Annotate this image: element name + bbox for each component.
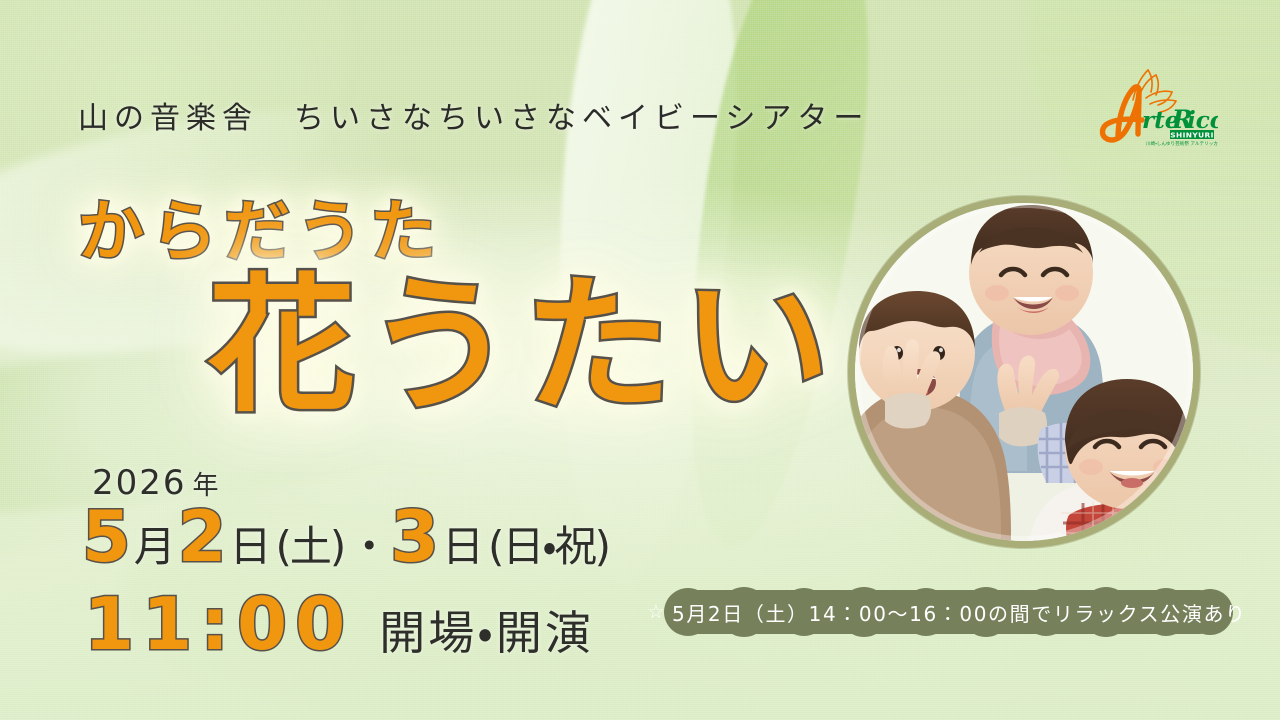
event-day1-number: 2	[178, 502, 228, 572]
baby-photo-circle	[848, 196, 1200, 548]
relax-performance-note: ☆ 5月2日（土）14：00〜16：00の間でリラックス公演あり	[648, 586, 1246, 638]
main-title: 花うたい	[208, 272, 840, 420]
event-time-line: 11:00 開場・開演	[84, 588, 594, 660]
relax-note-text: 5月2日（土）14：00〜16：00の間でリラックス公演あり	[672, 598, 1247, 627]
event-day1-unit: 日	[229, 526, 271, 568]
arte-ricca-logo[interactable]: rte R icca SHINYURI 川崎・しんゆり芸術祭 アルテリッカしんゆ…	[1076, 64, 1218, 148]
event-date-line: 5 月 2 日 (土) ・ 3 日 (日・祝)	[82, 502, 611, 572]
producer-line: 山の音楽舎 ちいさなちいさなベイビーシアター	[78, 93, 869, 137]
event-day2-number: 3	[390, 502, 440, 572]
event-month-number: 5	[82, 502, 132, 572]
event-day2-weekday: (日・祝)	[488, 526, 609, 568]
svg-text:SHINYURI: SHINYURI	[1170, 130, 1213, 139]
event-date-separator: ・	[348, 526, 388, 568]
relax-note-text-row: ☆ 5月2日（土）14：00〜16：00の間でリラックス公演あり	[648, 586, 1246, 638]
event-day1-weekday: (土)	[275, 526, 344, 568]
event-day2-unit: 日	[442, 526, 484, 568]
baby-photo-image	[855, 203, 1193, 541]
event-time-value: 11:00	[84, 588, 353, 660]
star-icon: ☆	[647, 601, 666, 623]
svg-text:川崎・しんゆり芸術祭 アルテリッカしんゆり: 川崎・しんゆり芸術祭 アルテリッカしんゆり	[1146, 140, 1218, 147]
event-time-label: 開場・開演	[379, 610, 594, 656]
event-month-unit: 月	[134, 526, 176, 568]
poster-canvas: 山の音楽舎 ちいさなちいさなベイビーシアター rte R ic	[0, 0, 1280, 720]
